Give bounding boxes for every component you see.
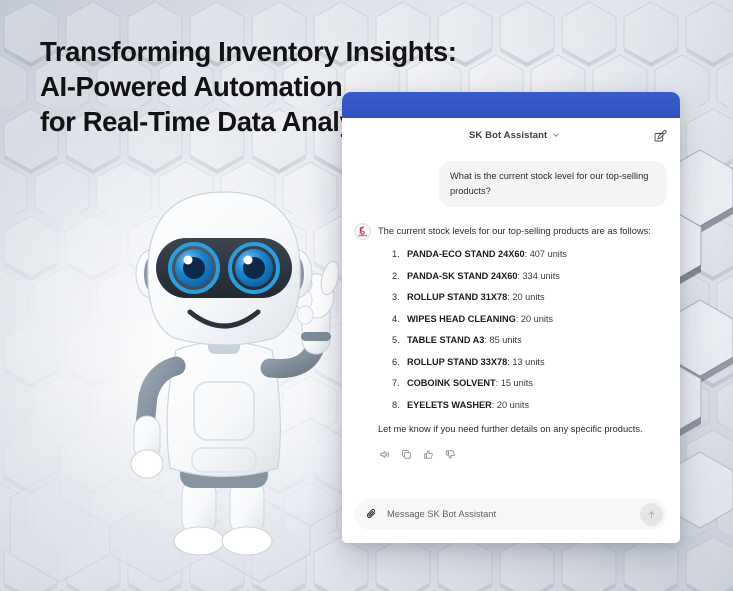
assistant-name-label: SK Bot Assistant <box>469 130 547 141</box>
product-name: WIPES HEAD CLEANING <box>407 314 516 324</box>
product-stock-value: : 20 units <box>492 400 529 410</box>
list-item-index: 5. <box>392 334 407 346</box>
product-stock-value: : 334 units <box>517 271 559 281</box>
product-stock-value: : 85 units <box>484 335 521 345</box>
list-item: 6.ROLLUP STAND 33X78: 13 units <box>378 356 667 368</box>
list-item: 4.WIPES HEAD CLEANING: 20 units <box>378 313 667 325</box>
product-stock-value: : 15 units <box>496 378 533 388</box>
list-item-body: TABLE STAND A3: 85 units <box>407 334 522 346</box>
product-name: PANDA-ECO STAND 24X60 <box>407 249 525 259</box>
compose-edit-icon[interactable] <box>654 129 667 142</box>
message-input-placeholder[interactable]: Message SK Bot Assistant <box>387 509 631 519</box>
headline-line-1: Transforming Inventory Insights: <box>40 34 510 69</box>
list-item: 1.PANDA-ECO STAND 24X60: 407 units <box>378 248 667 260</box>
list-item-body: COBOINK SOLVENT: 15 units <box>407 377 533 389</box>
list-item-body: PANDA-ECO STAND 24X60: 407 units <box>407 248 567 260</box>
thumbs-up-glyph <box>423 449 434 460</box>
thumbs-down-icon[interactable] <box>445 449 456 460</box>
list-item-index: 1. <box>392 248 407 260</box>
bot-outro-text: Let me know if you need further details … <box>378 422 667 436</box>
list-item: 5.TABLE STAND A3: 85 units <box>378 334 667 346</box>
composer-area: Message SK Bot Assistant <box>342 485 680 543</box>
stock-level-list: 1.PANDA-ECO STAND 24X60: 407 units2.PAND… <box>378 248 667 411</box>
bot-intro-text: The current stock levels for our top-sel… <box>378 224 667 238</box>
robot-mascot-illustration <box>118 186 368 566</box>
assistant-selector-dropdown[interactable]: SK Bot Assistant <box>469 130 560 141</box>
list-item-index: 4. <box>392 313 407 325</box>
bot-message-row: The current stock levels for our top-sel… <box>354 224 667 460</box>
paperclip-icon[interactable] <box>366 508 378 520</box>
message-actions-toolbar <box>378 449 667 460</box>
list-item-index: 2. <box>392 270 407 282</box>
product-name: PANDA-SK STAND 24X60 <box>407 271 517 281</box>
product-stock-value: : 20 units <box>516 314 553 324</box>
thumbs-down-glyph <box>445 449 456 460</box>
send-button[interactable] <box>640 503 663 526</box>
list-item-body: EYELETS WASHER: 20 units <box>407 399 529 411</box>
window-titlebar <box>342 92 680 118</box>
list-item: 3.ROLLUP STAND 31X78: 20 units <box>378 291 667 303</box>
chat-window: SK Bot Assistant What is the current sto… <box>342 92 680 543</box>
sk-bot-logo-icon <box>354 223 371 240</box>
list-item-index: 8. <box>392 399 407 411</box>
list-item-index: 7. <box>392 377 407 389</box>
list-item-body: ROLLUP STAND 33X78: 13 units <box>407 356 545 368</box>
copy-glyph <box>401 449 412 460</box>
list-item-index: 6. <box>392 356 407 368</box>
message-list: What is the current stock level for our … <box>342 152 680 485</box>
list-item: 2.PANDA-SK STAND 24X60: 334 units <box>378 270 667 282</box>
product-stock-value: : 13 units <box>507 357 544 367</box>
thumbs-up-icon[interactable] <box>423 449 434 460</box>
product-name: COBOINK SOLVENT <box>407 378 496 388</box>
list-item-index: 3. <box>392 291 407 303</box>
copy-icon[interactable] <box>401 449 412 460</box>
message-composer[interactable]: Message SK Bot Assistant <box>355 499 667 530</box>
compose-edit-glyph <box>654 129 667 142</box>
product-name: ROLLUP STAND 33X78 <box>407 357 507 367</box>
read-aloud-glyph <box>379 449 390 460</box>
read-aloud-icon[interactable] <box>379 449 390 460</box>
user-message-bubble: What is the current stock level for our … <box>439 161 667 207</box>
product-name: EYELETS WASHER <box>407 400 492 410</box>
list-item-body: PANDA-SK STAND 24X60: 334 units <box>407 270 560 282</box>
product-stock-value: : 407 units <box>525 249 567 259</box>
user-message-row: What is the current stock level for our … <box>354 161 667 207</box>
list-item: 8.EYELETS WASHER: 20 units <box>378 399 667 411</box>
chat-header: SK Bot Assistant <box>342 118 680 152</box>
list-item-body: ROLLUP STAND 31X78: 20 units <box>407 291 545 303</box>
list-item-body: WIPES HEAD CLEANING: 20 units <box>407 313 553 325</box>
bot-message-content: The current stock levels for our top-sel… <box>378 224 667 460</box>
paperclip-glyph <box>366 508 378 520</box>
chevron-down-icon <box>552 131 560 139</box>
sk-bot-logo-glyph <box>355 224 370 239</box>
product-name: ROLLUP STAND 31X78 <box>407 292 507 302</box>
list-item: 7.COBOINK SOLVENT: 15 units <box>378 377 667 389</box>
product-stock-value: : 20 units <box>507 292 544 302</box>
product-name: TABLE STAND A3 <box>407 335 484 345</box>
arrow-up-icon <box>646 509 657 520</box>
